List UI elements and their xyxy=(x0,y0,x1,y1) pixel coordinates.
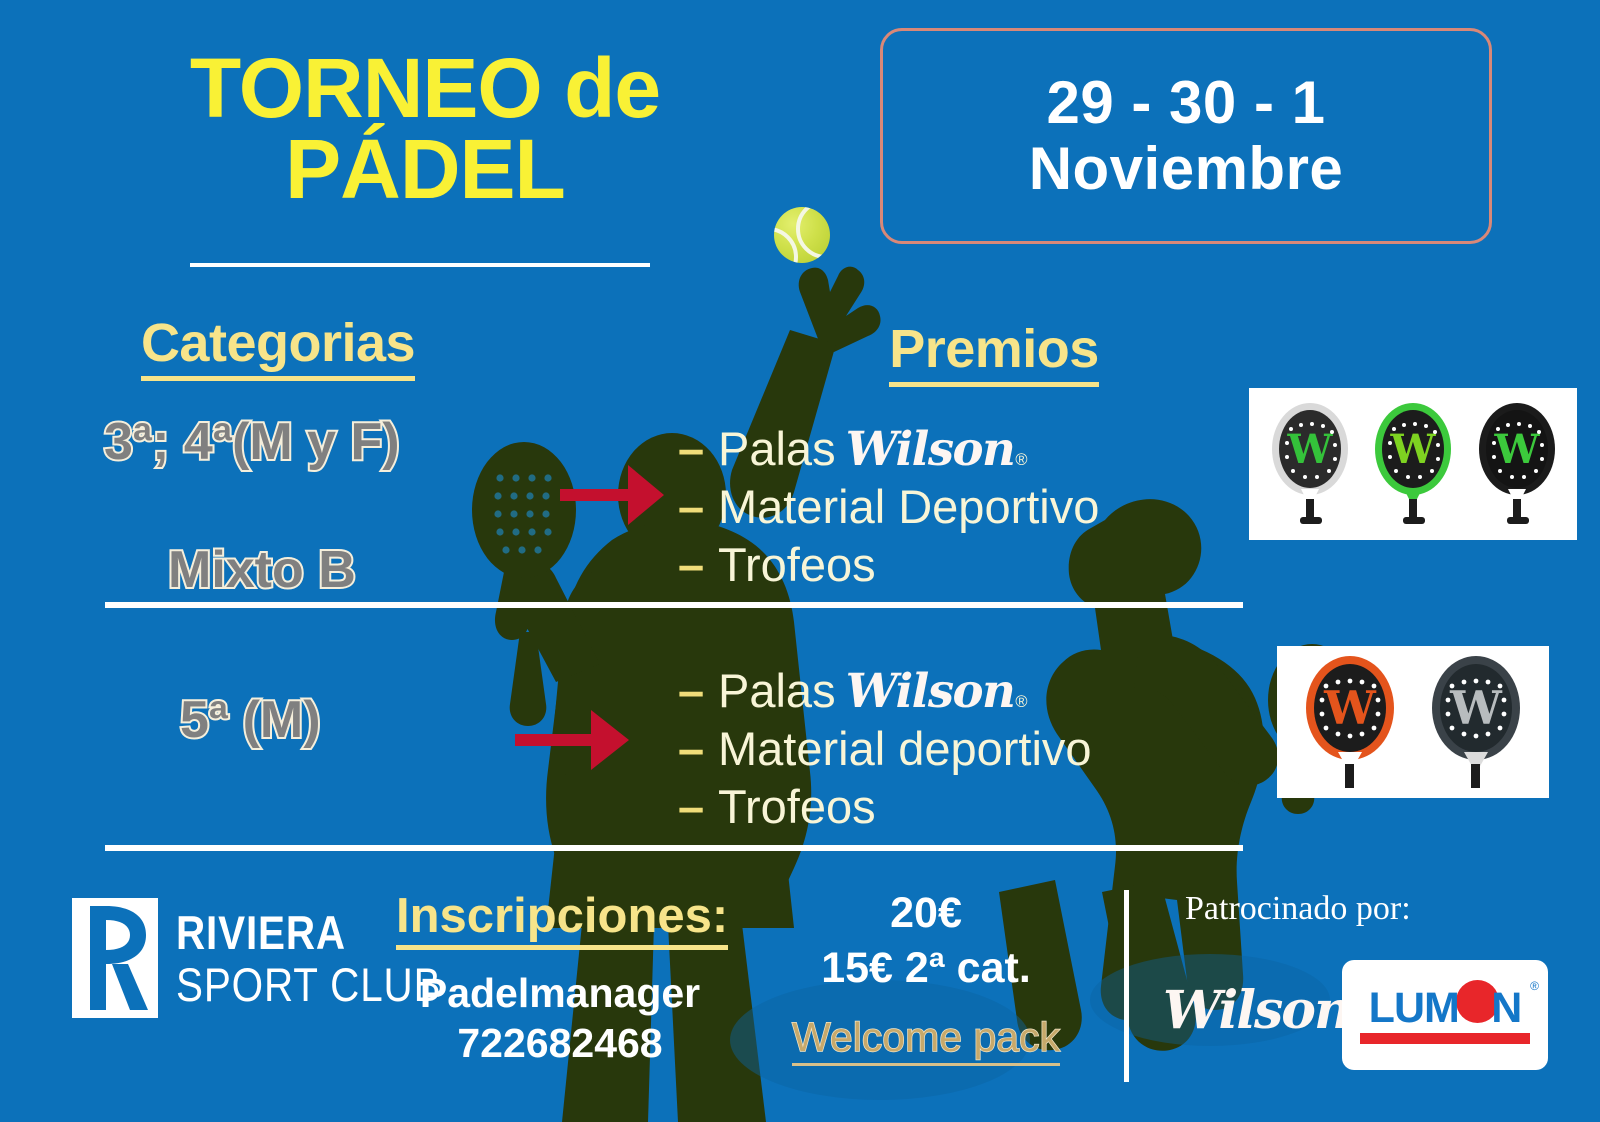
racket-1: W xyxy=(1267,399,1353,529)
inscriptions-body: Padelmanager 722682468 xyxy=(410,968,710,1068)
prize-text: Material deportivo xyxy=(718,720,1092,778)
wilson-wordmark: Wilson xyxy=(1163,980,1350,1041)
svg-text:W: W xyxy=(1493,426,1540,473)
svg-text:W: W xyxy=(1449,681,1503,735)
prize-block-upper: – Palas Wilson ® – Material Deportivo – … xyxy=(678,420,1099,593)
prize-line: – Palas Wilson ® xyxy=(678,662,1092,720)
prize-text: Material Deportivo xyxy=(718,478,1099,536)
lumon-name-left: LUM xyxy=(1369,984,1459,1032)
prizes-heading-wrap: Premios xyxy=(880,318,1108,387)
prize-line: – Palas Wilson ® xyxy=(678,420,1099,478)
inscriptions-heading: Inscripciones: xyxy=(396,888,728,950)
sponsor-wilson-logo: Wilson® xyxy=(1163,980,1366,1041)
bullet-dash: – xyxy=(678,778,718,836)
date-month: Noviembre xyxy=(1029,136,1344,202)
categories-heading: Categorias xyxy=(141,312,415,381)
registered-mark: ® xyxy=(1015,450,1027,470)
welcome-pack-label: Welcome pack xyxy=(792,1014,1060,1066)
registered-mark: ® xyxy=(1015,692,1027,712)
racket-3: W xyxy=(1474,399,1560,529)
wilson-logo-text: Wilson xyxy=(846,662,1015,719)
divider-upper xyxy=(105,602,1243,608)
prize-block-lower: – Palas Wilson ® – Material deportivo – … xyxy=(678,662,1092,835)
red-arrow-right-icon-upper xyxy=(560,455,670,535)
racket-2: W xyxy=(1370,399,1456,529)
sponsor-lumon-logo: LUMON ® xyxy=(1342,960,1548,1070)
lumon-name-right: N xyxy=(1491,984,1521,1032)
title-underline xyxy=(190,263,650,267)
lumon-underline-bar xyxy=(1360,1033,1530,1044)
category-item-2: Mixto B xyxy=(168,540,356,600)
title-line-2: PÁDEL xyxy=(95,129,755,210)
divider-vertical xyxy=(1124,890,1129,1082)
price-block: 20€ 15€ 2ª cat. xyxy=(776,886,1076,996)
inscriptions-heading-wrap: Inscripciones: xyxy=(396,888,728,950)
price-full: 20€ xyxy=(776,886,1076,941)
prize-text: Palas xyxy=(718,420,836,478)
price-second-cat: 15€ 2ª cat. xyxy=(776,941,1076,996)
svg-text:W: W xyxy=(1323,681,1377,735)
registered-mark: ® xyxy=(1530,979,1539,993)
sponsors-heading: Patrocinado por: xyxy=(1185,890,1411,928)
bullet-dash: – xyxy=(678,420,718,478)
prize-text: Palas xyxy=(718,662,836,720)
svg-text:W: W xyxy=(1390,426,1437,473)
wilson-logo-text: Wilson xyxy=(846,420,1015,477)
date-text: 29 - 30 - 1 Noviembre xyxy=(1029,70,1344,202)
wilson-rackets-image-bottom: W W xyxy=(1277,646,1549,798)
prize-line: – Trofeos xyxy=(678,536,1099,594)
welcome-pack-wrap: Welcome pack xyxy=(776,1014,1076,1066)
svg-text:W: W xyxy=(1286,426,1333,473)
prize-line: – Material deportivo xyxy=(678,720,1092,778)
riviera-r-monogram-icon xyxy=(72,898,158,1018)
category-item-1: 3ª; 4ª(M y F) xyxy=(104,412,400,472)
lumon-wordmark: LUMON xyxy=(1360,987,1530,1030)
bullet-dash: – xyxy=(678,536,718,594)
inscriptions-platform: Padelmanager xyxy=(410,968,710,1018)
page-title: TORNEO de PÁDEL xyxy=(95,48,755,211)
prize-line: – Material Deportivo xyxy=(678,478,1099,536)
category-item-3: 5ª (M) xyxy=(180,690,321,750)
categories-heading-wrap: Categorias xyxy=(128,312,428,381)
prize-line: – Trofeos xyxy=(678,778,1092,836)
wilson-rackets-image-top: W W xyxy=(1249,388,1577,540)
divider-lower xyxy=(105,845,1243,851)
bullet-dash: – xyxy=(678,720,718,778)
poster-canvas: TORNEO de PÁDEL 29 - 30 - 1 Noviembre Ca… xyxy=(0,0,1600,1122)
prize-text: Trofeos xyxy=(718,536,876,594)
date-days: 29 - 30 - 1 xyxy=(1029,70,1344,136)
inscriptions-phone[interactable]: 722682468 xyxy=(410,1018,710,1068)
riviera-line-2: SPORT CLUB xyxy=(176,961,441,1008)
date-box: 29 - 30 - 1 Noviembre xyxy=(880,28,1492,244)
tennis-ball-icon xyxy=(774,207,830,263)
red-arrow-right-icon-lower xyxy=(515,700,635,780)
racket-black: W xyxy=(1424,652,1528,792)
bullet-dash: – xyxy=(678,478,718,536)
racket-orange: W xyxy=(1298,652,1402,792)
prize-text: Trofeos xyxy=(718,778,876,836)
prizes-heading: Premios xyxy=(889,318,1099,387)
title-line-1: TORNEO de xyxy=(95,48,755,129)
bullet-dash: – xyxy=(678,662,718,720)
